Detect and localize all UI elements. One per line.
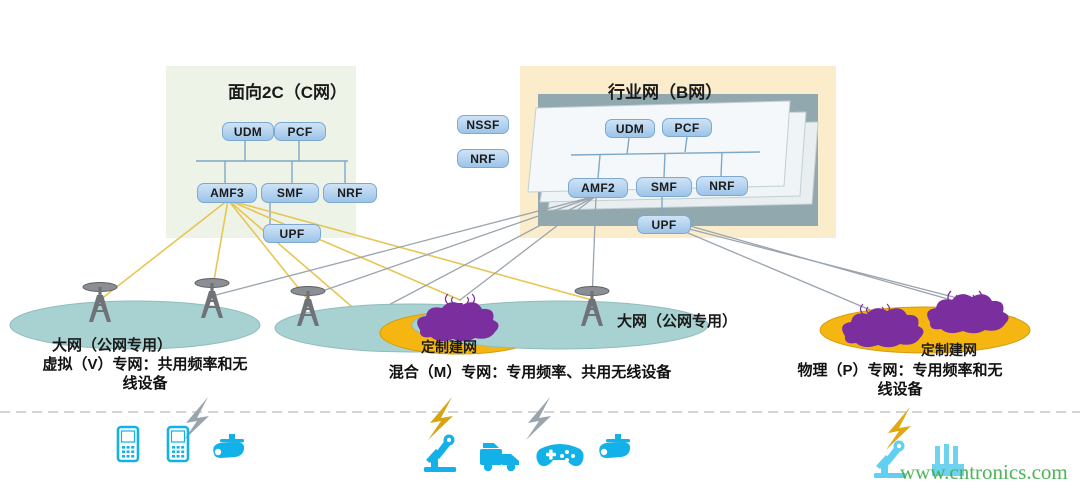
zone-label-m-custom: 定制建网 [421,337,477,357]
nf-box-b-nrf[interactable]: NRF [696,176,748,196]
device-group-m [424,434,630,472]
nf-box-c-upf[interactable]: UPF [263,224,321,243]
diagram-vector-layer [0,0,1080,489]
device-group-v [118,427,244,461]
caption-v-network: 虚拟（V）专网：共用频率和无 线设备 [10,356,280,394]
zone-label-p-public: 大网（公网专用） [617,310,737,331]
phone-icon [168,427,188,461]
site-watermark: www.cntronics.com [900,460,1068,485]
nf-box-c-nrf[interactable]: NRF [323,183,377,203]
robot-arm-icon [424,435,456,473]
bolt-m-2-icon [526,397,551,440]
gamepad-icon [536,444,583,466]
panel-title-c-net: 面向2C（C网） [228,78,347,103]
zone-label-p-custom: 定制建网 [921,340,977,360]
caption-m-network: 混合（M）专网：专用频率、共用无线设备 [330,364,730,383]
nf-box-b-smf[interactable]: SMF [636,177,692,197]
zone-label-v-public: 大网（公网专用） [52,334,172,355]
lightning-bolt-icon-group [184,397,911,450]
nf-box-b-udm[interactable]: UDM [605,119,655,138]
caption-p-network: 物理（P）专网：专用频率和无 线设备 [770,362,1030,400]
nf-box-c-udm[interactable]: UDM [222,122,274,141]
nf-box-shared-nssf[interactable]: NSSF [457,115,509,134]
camera-icon [213,434,244,458]
nf-box-b-upf[interactable]: UPF [637,215,691,234]
nf-box-b-amf2[interactable]: AMF2 [568,178,628,198]
nf-box-c-amf3[interactable]: AMF3 [197,183,257,203]
truck-icon [480,443,519,471]
bolt-m-1-icon [428,397,453,440]
nf-box-c-pcf[interactable]: PCF [274,122,326,141]
panel-title-b-net: 行业网（B网） [608,78,722,103]
camera-icon [599,434,630,458]
nf-box-b-pcf[interactable]: PCF [662,118,712,137]
nf-box-shared-nrf[interactable]: NRF [457,149,509,168]
nf-box-c-smf[interactable]: SMF [261,183,319,203]
diagram-canvas: 面向2C（C网） 行业网（B网） UDM PCF AMF3 SMF NRF UP… [0,0,1080,489]
phone-icon [118,427,138,461]
